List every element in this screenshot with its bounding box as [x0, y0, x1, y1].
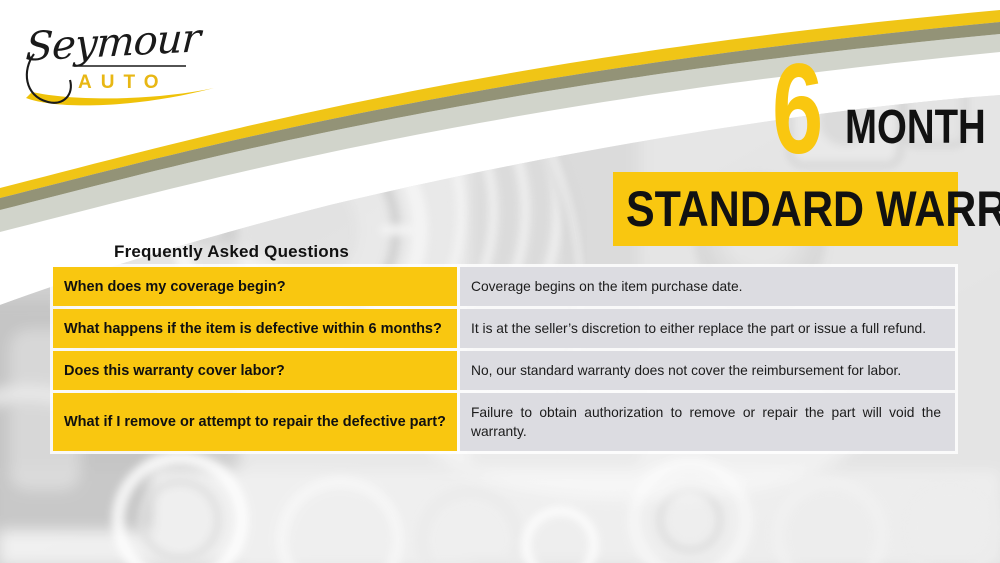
table-row: Does this warranty cover labor? No, our … — [53, 351, 955, 390]
standard-warranty-text: STANDARD WARRANTY — [626, 184, 1000, 234]
standard-warranty-banner: STANDARD WARRANTY — [613, 172, 958, 246]
seymour-auto-logo[interactable]: Seymour AUTO — [18, 14, 248, 114]
table-row: What happens if the item is defective wi… — [53, 309, 955, 348]
warranty-month-label: MONTH — [845, 104, 986, 152]
faq-heading: Frequently Asked Questions — [114, 242, 349, 262]
faq-answer: Coverage begins on the item purchase dat… — [460, 267, 955, 306]
table-row: What if I remove or attempt to repair th… — [53, 393, 955, 451]
logo-auto-text: AUTO — [78, 72, 167, 94]
faq-question: When does my coverage begin? — [53, 267, 457, 306]
faq-answer: It is at the seller’s discretion to eith… — [460, 309, 955, 348]
faq-table: When does my coverage begin? Coverage be… — [50, 264, 958, 454]
warranty-months-number: 6 — [772, 46, 822, 174]
faq-answer: Failure to obtain authorization to remov… — [460, 393, 955, 451]
logo-script-text: Seymour — [24, 15, 201, 70]
faq-question: Does this warranty cover labor? — [53, 351, 457, 390]
faq-question: What if I remove or attempt to repair th… — [53, 393, 457, 451]
warranty-slide: Seymour AUTO 6 MONTH STANDARD WARRANTY F… — [0, 0, 1000, 563]
table-row: When does my coverage begin? Coverage be… — [53, 267, 955, 306]
faq-answer: No, our standard warranty does not cover… — [460, 351, 955, 390]
faq-question: What happens if the item is defective wi… — [53, 309, 457, 348]
